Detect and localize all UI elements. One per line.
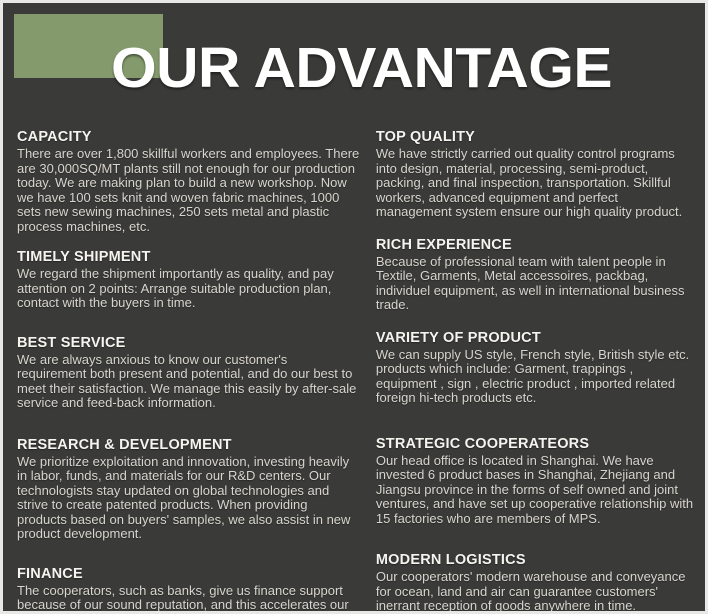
section-body: We can supply US style, French style, Br… — [376, 348, 695, 406]
section-capacity: CAPACITY There are over 1,800 skillful w… — [17, 129, 360, 234]
section-body: Our head office is located in Shanghai. … — [376, 454, 695, 527]
section-heading: CAPACITY — [17, 129, 360, 146]
advantage-poster: OUR ADVANTAGE CAPACITY There are over 1,… — [0, 0, 708, 614]
columns-container: CAPACITY There are over 1,800 skillful w… — [3, 129, 705, 614]
section-heading: RICH EXPERIENCE — [376, 237, 695, 254]
section-heading: TIMELY SHIPMENT — [17, 249, 360, 266]
section-body: Because of professional team with talent… — [376, 255, 695, 313]
section-research-and-development: RESEARCH & DEVELOPMENT We prioritize exp… — [17, 437, 360, 542]
section-heading: VARIETY OF PRODUCT — [376, 330, 695, 347]
section-variety-of-product: VARIETY OF PRODUCT We can supply US styl… — [376, 330, 695, 406]
right-column: TOP QUALITY We have strictly carried out… — [372, 129, 695, 614]
section-top-quality: TOP QUALITY We have strictly carried out… — [376, 129, 695, 220]
section-strategic-cooperateors: STRATEGIC COOPERATEORS Our head office i… — [376, 436, 695, 527]
section-body: The cooperators, such as banks, give us … — [17, 584, 360, 614]
section-finance: FINANCE The cooperators, such as banks, … — [17, 566, 360, 614]
section-body: We are always anxious to know our custom… — [17, 353, 360, 411]
section-body: Our cooperators' modern warehouse and co… — [376, 570, 695, 614]
section-heading: MODERN LOGISTICS — [376, 552, 695, 569]
section-heading: FINANCE — [17, 566, 360, 583]
section-heading: STRATEGIC COOPERATEORS — [376, 436, 695, 453]
section-best-service: BEST SERVICE We are always anxious to kn… — [17, 335, 360, 411]
section-heading: RESEARCH & DEVELOPMENT — [17, 437, 360, 454]
section-body: We regard the shipment importantly as qu… — [17, 267, 360, 311]
section-body: We have strictly carried out quality con… — [376, 147, 695, 220]
section-timely-shipment: TIMELY SHIPMENT We regard the shipment i… — [17, 249, 360, 311]
section-body: We prioritize exploitation and innovatio… — [17, 455, 360, 542]
section-heading: BEST SERVICE — [17, 335, 360, 352]
left-column: CAPACITY There are over 1,800 skillful w… — [17, 129, 372, 614]
section-rich-experience: RICH EXPERIENCE Because of professional … — [376, 237, 695, 313]
section-heading: TOP QUALITY — [376, 129, 695, 146]
section-modern-logistics: MODERN LOGISTICS Our cooperators' modern… — [376, 552, 695, 614]
section-body: There are over 1,800 skillful workers an… — [17, 147, 360, 234]
page-title: OUR ADVANTAGE — [111, 39, 612, 97]
